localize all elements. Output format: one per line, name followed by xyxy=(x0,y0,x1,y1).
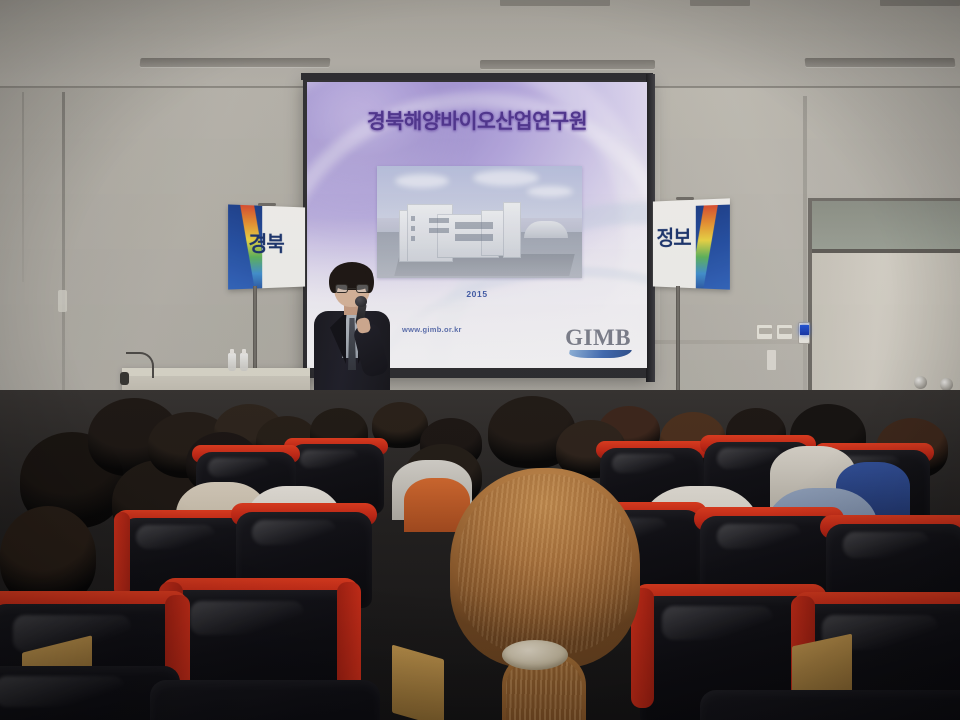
logo-wave-icon xyxy=(568,350,632,358)
wall-control-panel[interactable] xyxy=(798,322,810,344)
wall-card xyxy=(767,350,776,370)
water-bottle xyxy=(240,353,248,371)
foreground-person-ponytail xyxy=(450,468,646,718)
door-handle-icon[interactable] xyxy=(914,376,927,389)
led-indicator-icon xyxy=(800,325,809,335)
banner-pole xyxy=(676,286,680,398)
banner-left-text: 경북 xyxy=(248,228,283,259)
banner-right: 정보 xyxy=(653,198,730,289)
audience-area xyxy=(0,390,960,720)
banner-left: 경북 xyxy=(228,204,305,289)
hair-strands xyxy=(458,474,632,654)
light-switch[interactable] xyxy=(776,324,793,340)
hair-scrunchie xyxy=(502,640,568,670)
ceiling-vent xyxy=(805,58,956,67)
ceiling-vent xyxy=(480,60,655,69)
microphone-head-icon xyxy=(355,296,367,307)
slide-title: 경북해양바이오산업연구원 xyxy=(307,104,647,134)
banner-right-text: 정보 xyxy=(657,222,691,252)
seat[interactable] xyxy=(700,690,960,720)
logo-text: GIMB xyxy=(565,326,631,349)
wall-fixture xyxy=(58,290,67,312)
gimb-logo: GIMB xyxy=(565,326,631,358)
wall-seam xyxy=(22,92,24,282)
door-transom-window xyxy=(812,201,960,253)
seat[interactable] xyxy=(150,680,380,720)
ceiling-panel xyxy=(880,0,960,6)
slide-building-photo xyxy=(377,166,582,278)
eyeglasses-icon xyxy=(335,284,369,293)
ceiling-vent xyxy=(140,58,331,67)
light-switch[interactable] xyxy=(756,324,773,340)
ceiling-panel xyxy=(500,0,610,6)
wall-seam xyxy=(62,92,65,422)
banner-clip xyxy=(258,203,276,206)
banner-graphic-icon xyxy=(696,205,730,290)
auditorium-photo: 경북해양바이오산업연구원 xyxy=(0,0,960,720)
slide-url: www.gimb.or.kr xyxy=(402,325,462,334)
wall-seam xyxy=(803,96,807,426)
water-bottle xyxy=(228,353,236,371)
microphone-head-icon xyxy=(120,372,129,385)
gooseneck-microphone-icon xyxy=(126,352,154,378)
banner-clip xyxy=(676,197,694,200)
ceiling-panel xyxy=(690,0,750,6)
